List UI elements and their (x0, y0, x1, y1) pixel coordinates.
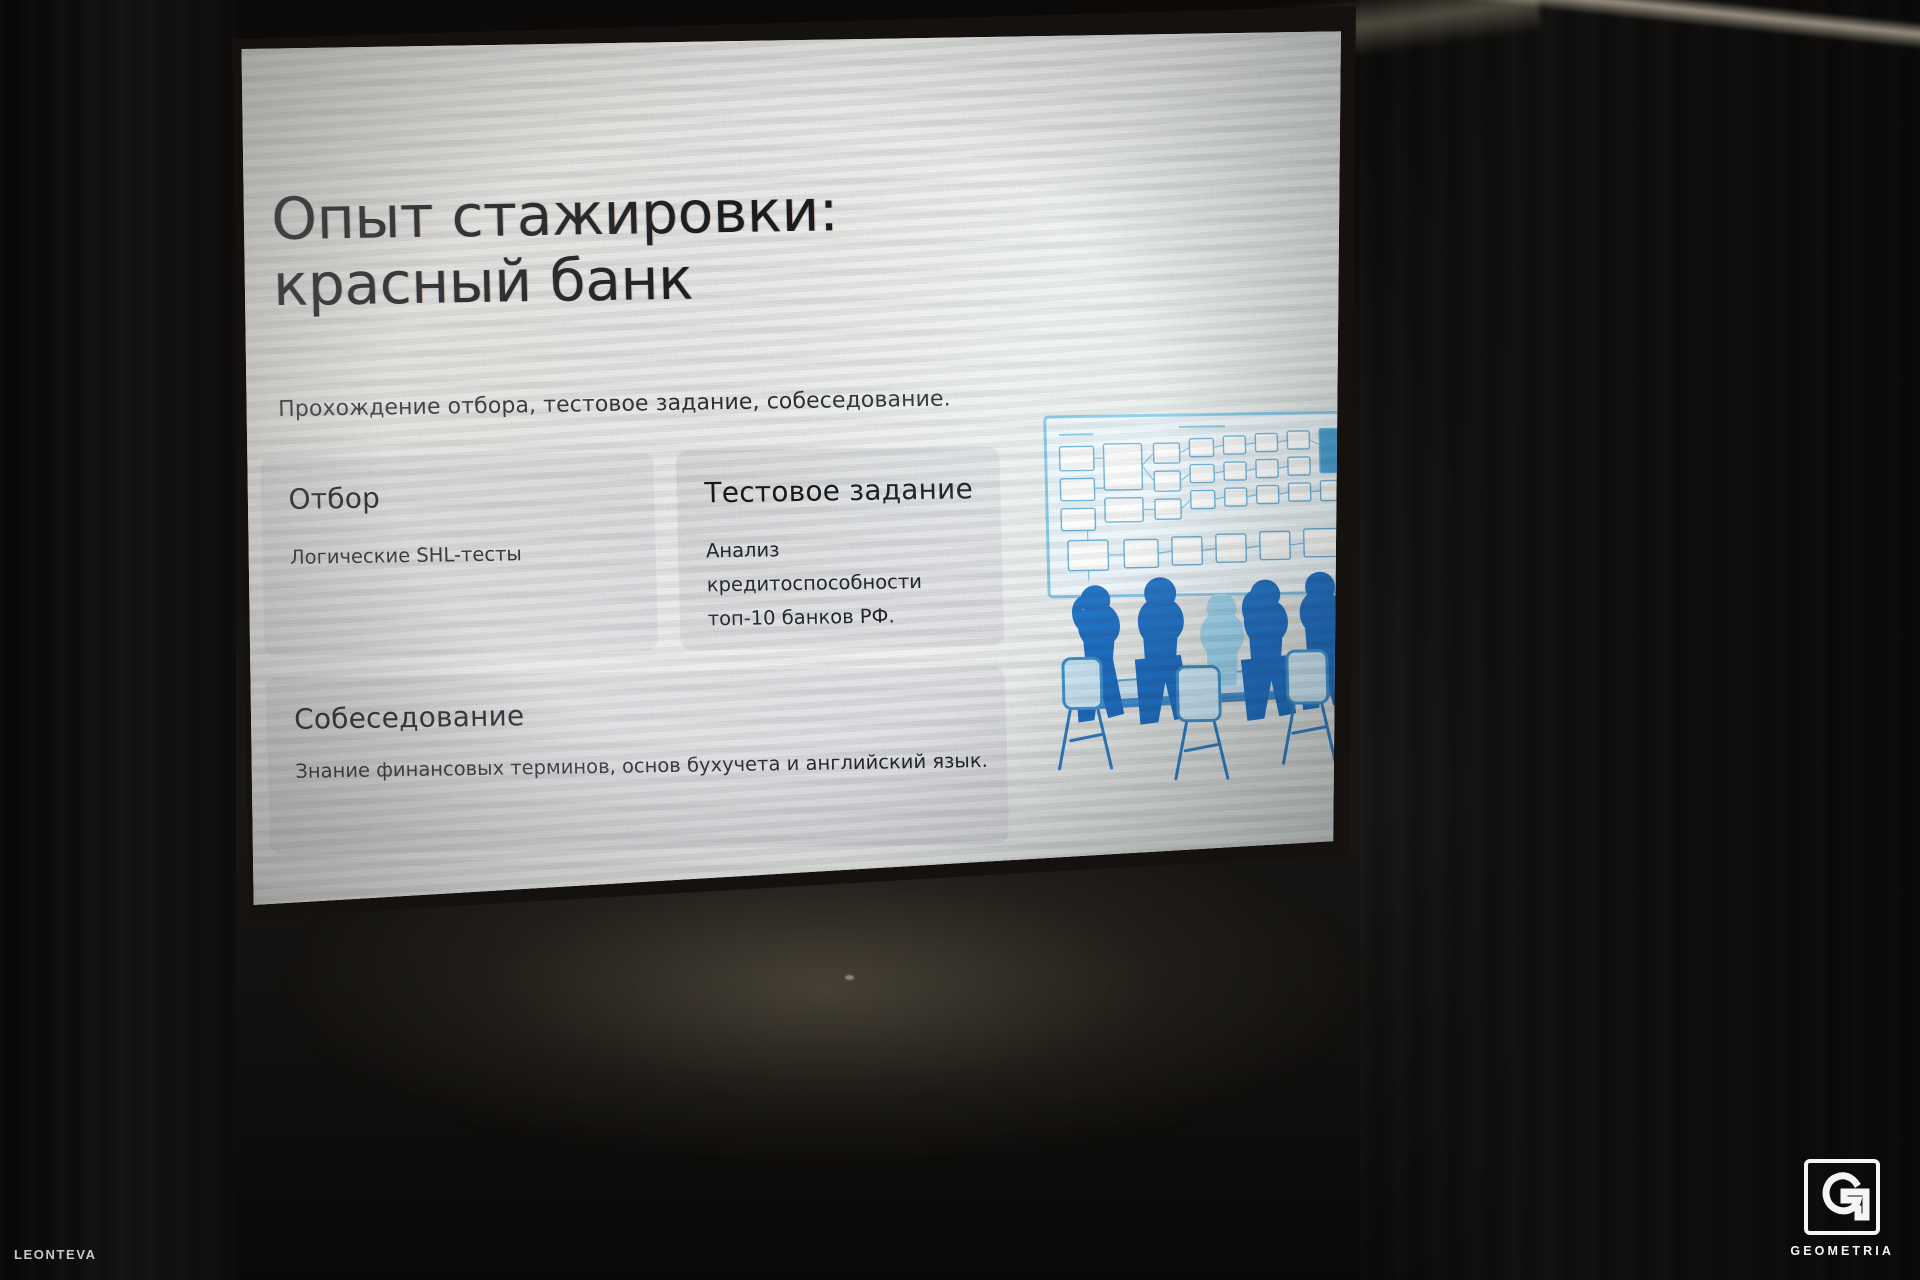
card-test-assignment-title: Тестовое задание (704, 472, 973, 509)
card-interview-body: Знание финансовых терминов, основ бухуче… (295, 744, 990, 789)
slide-title: Опыт стажировки: красный банк (271, 175, 1034, 318)
brand-watermark: GEOMETRIA (1790, 1159, 1894, 1258)
card-selection-body: Логические SHL-тесты (290, 535, 639, 575)
card-selection-title: Отбор (288, 481, 380, 515)
photographer-watermark: LEONTEVA (14, 1247, 97, 1262)
screen-surface: Опыт стажировки: красный банк Прохождени… (236, 26, 1342, 912)
slide-subtitle: Прохождение отбора, тестовое задание, со… (278, 384, 1099, 422)
card-interview-title: Собеседование (294, 699, 525, 736)
card-interview: Собеседование Знание финансовых терминов… (265, 666, 1009, 856)
business-meeting-illustration (1028, 396, 1342, 802)
geometria-g-logo-icon (1804, 1159, 1880, 1235)
card-test-assignment-body: Анализ кредитоспособности топ-10 банков … (706, 530, 987, 637)
projection-screen: Опыт стажировки: красный банк Прохождени… (0, 0, 1920, 1280)
brand-watermark-label: GEOMETRIA (1790, 1244, 1894, 1258)
card-test-assignment: Тестовое задание Анализ кредитоспособнос… (675, 446, 1004, 651)
presentation-slide: Опыт стажировки: красный банк Прохождени… (236, 26, 1342, 912)
card-selection: Отбор Логические SHL-тесты (259, 451, 658, 657)
